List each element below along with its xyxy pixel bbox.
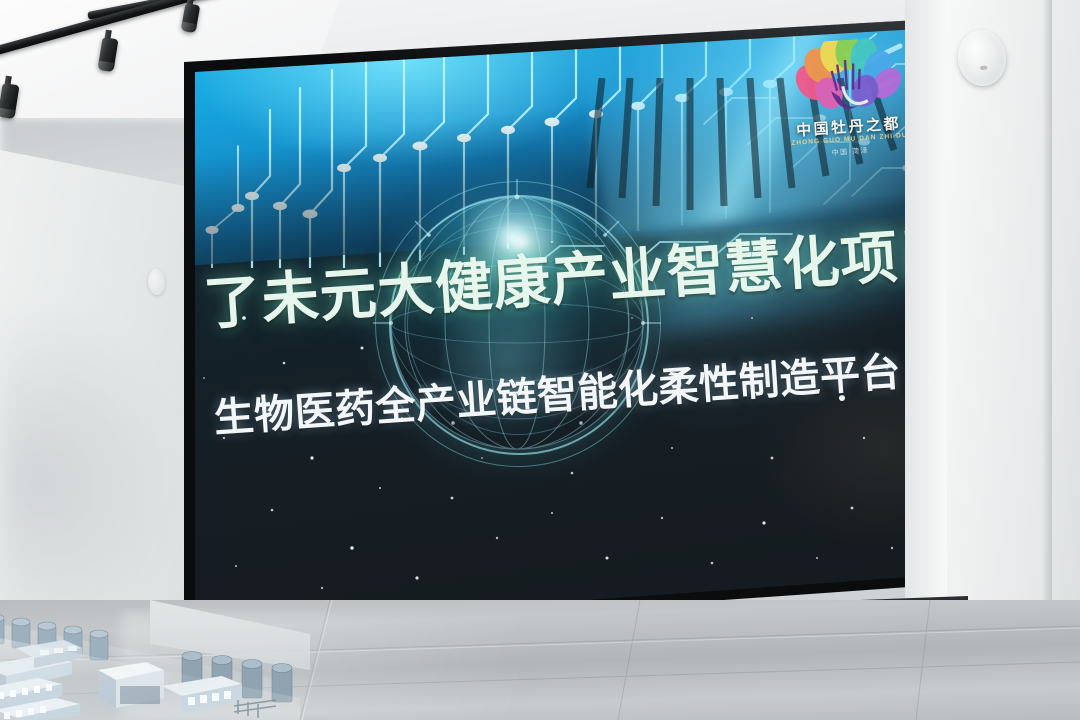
project-subtitle: 生物医药全产业链智能化柔性制造平台 xyxy=(213,349,930,440)
exhibition-hall-scene: 了未元大健康产业智慧化项目 生物医药全产业链智能化柔性制造平台 xyxy=(0,0,1080,720)
right-wall-inner-face xyxy=(905,0,947,650)
peony-capital-logo: 中国牡丹之都 ZHONG GUO MU DAN ZHI DU 中国·菏泽 xyxy=(768,35,927,173)
led-video-wall[interactable]: 了未元大健康产业智慧化项目 生物医药全产业链智能化柔性制造平台 xyxy=(152,18,952,638)
peony-flower-icon xyxy=(788,36,905,124)
project-title: 了未元大健康产业智慧化项目 xyxy=(202,227,920,334)
right-wall-edge xyxy=(1042,0,1052,660)
